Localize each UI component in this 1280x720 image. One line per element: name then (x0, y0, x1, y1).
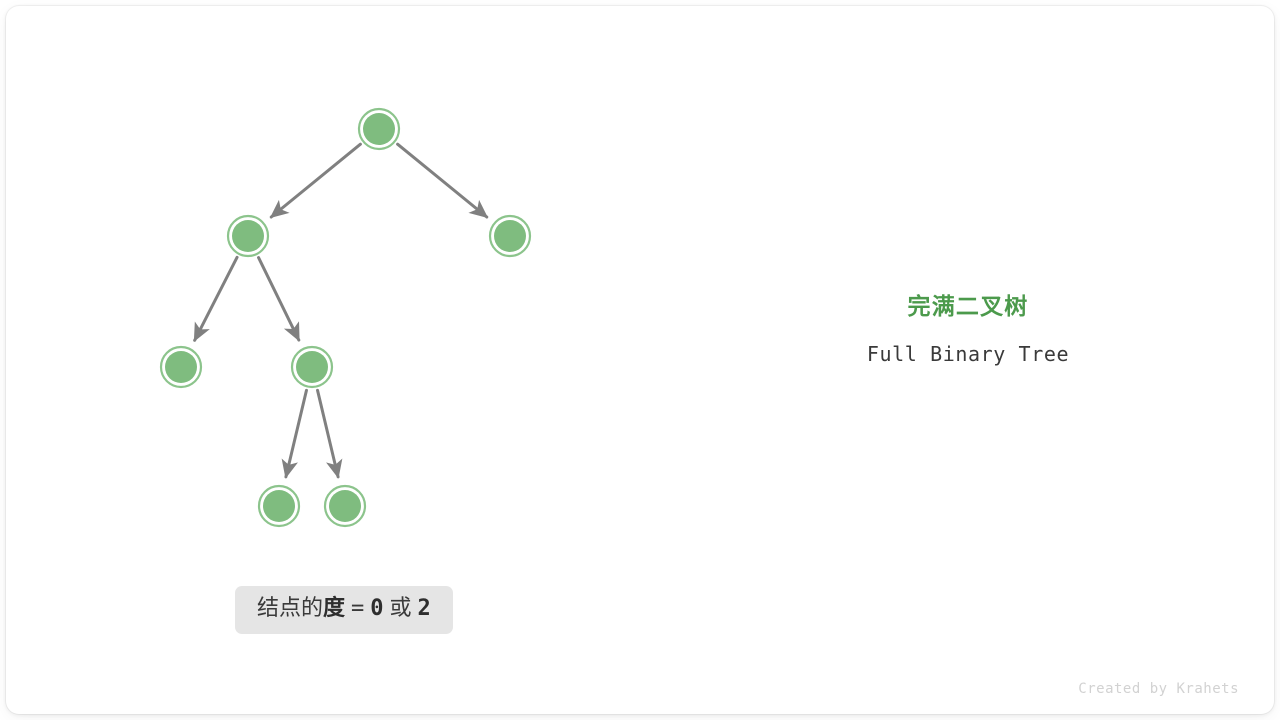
watermark-credit: Created by Krahets (1078, 681, 1239, 697)
tree-edge (259, 258, 299, 340)
legend-block: 完满二叉树 Full Binary Tree (718, 292, 1218, 367)
diagram-canvas: 完满二叉树 Full Binary Tree 结点的度=0或2 Created … (0, 0, 1280, 720)
tree-node (325, 486, 365, 526)
tree-edge (195, 257, 237, 340)
title-english: Full Binary Tree (718, 341, 1218, 367)
tree-node (259, 486, 299, 526)
tree-node (161, 347, 201, 387)
tree-edge (318, 390, 339, 476)
node-fill (296, 351, 328, 383)
title-chinese: 完满二叉树 (718, 292, 1218, 322)
tree-edge (398, 144, 487, 217)
node-fill (329, 490, 361, 522)
node-fill (494, 220, 526, 252)
caption-value-a: 0 (370, 596, 383, 621)
tree-nodes (161, 109, 530, 526)
tree-edge (271, 144, 360, 217)
caption-emphasis: 度 (323, 596, 345, 621)
tree-edges (195, 144, 487, 477)
node-fill (263, 490, 295, 522)
degree-caption: 结点的度=0或2 (235, 586, 453, 634)
caption-value-b: 2 (418, 596, 431, 621)
caption-prefix: 结点的 (257, 596, 323, 621)
tree-edge (286, 390, 307, 476)
caption-conjunction: 或 (390, 596, 412, 621)
tree-node (292, 347, 332, 387)
tree-node (359, 109, 399, 149)
node-fill (232, 220, 264, 252)
tree-node (490, 216, 530, 256)
caption-equals: = (351, 596, 364, 621)
tree-node (228, 216, 268, 256)
node-fill (363, 113, 395, 145)
node-fill (165, 351, 197, 383)
